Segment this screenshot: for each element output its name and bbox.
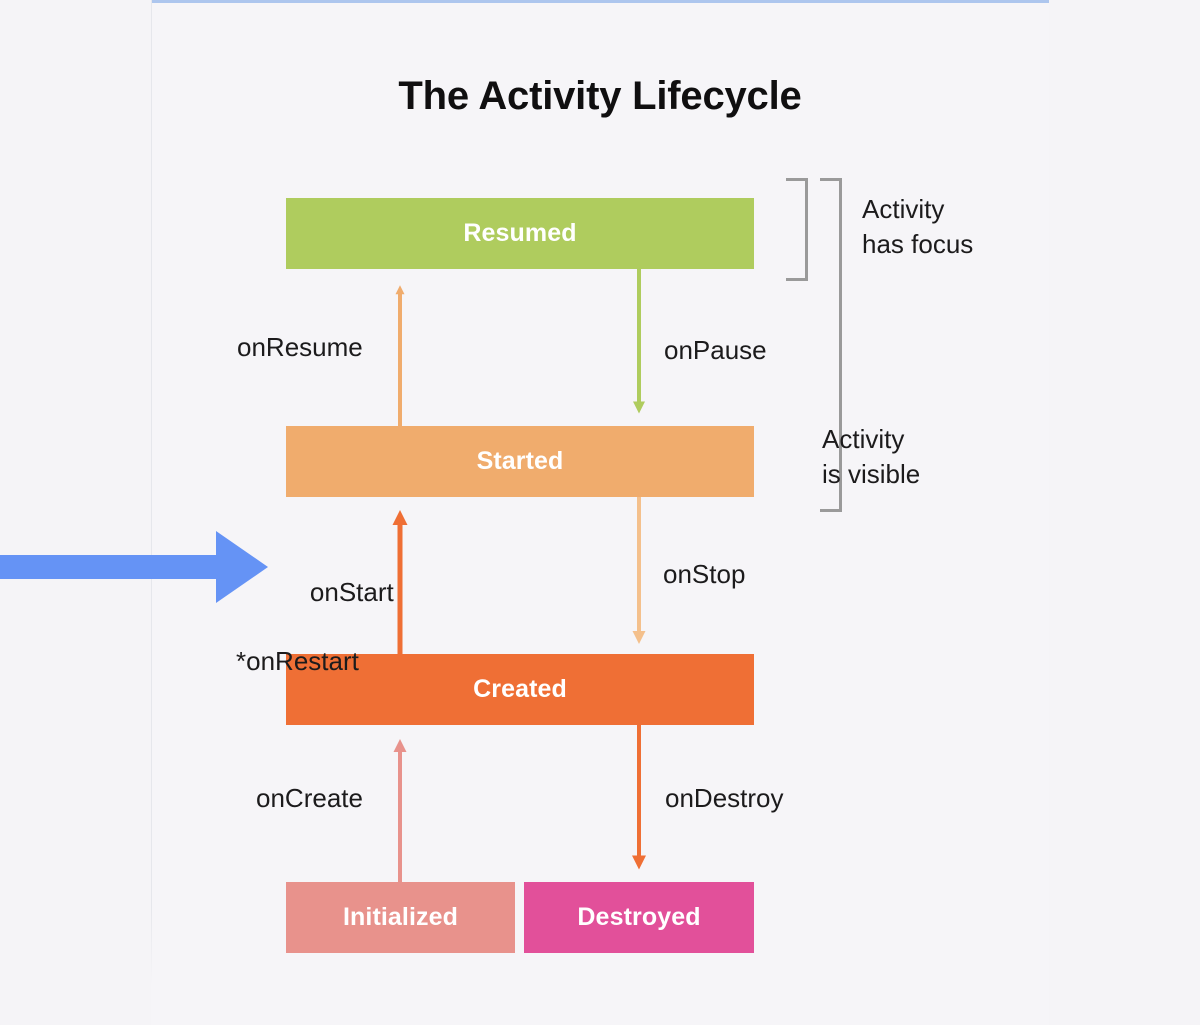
page-panel: [151, 0, 1049, 1025]
state-label-destroyed: Destroyed: [577, 903, 700, 932]
annotation-has-focus-line2: has focus: [862, 227, 973, 262]
edge-label-onstart-line2: *onRestart: [236, 644, 394, 678]
diagram-stage: The Activity Lifecycle: [0, 0, 1200, 1022]
edge-label-oncreate: onCreate: [256, 781, 363, 815]
edge-label-onstop: onStop: [663, 557, 745, 591]
state-label-initialized: Initialized: [343, 903, 458, 932]
state-label-created: Created: [473, 675, 567, 704]
state-label-resumed: Resumed: [463, 219, 576, 248]
edge-label-ondestroy: onDestroy: [665, 781, 784, 815]
state-box-started[interactable]: Started: [286, 426, 754, 497]
annotation-has-focus: Activity has focus: [862, 192, 973, 262]
panel-divider: [151, 0, 152, 985]
edge-label-onstart: onStart *onRestart: [281, 541, 394, 747]
bracket-has-focus: [786, 178, 808, 281]
annotation-is-visible: Activity is visible: [822, 422, 920, 492]
state-box-initialized[interactable]: Initialized: [286, 882, 515, 953]
page-title: The Activity Lifecycle: [151, 74, 1049, 119]
annotation-is-visible-line2: is visible: [822, 457, 920, 492]
edge-label-onresume: onResume: [237, 330, 363, 364]
edge-label-onpause: onPause: [664, 333, 767, 367]
annotation-has-focus-line1: Activity: [862, 192, 973, 227]
state-box-resumed[interactable]: Resumed: [286, 198, 754, 269]
state-label-started: Started: [477, 447, 564, 476]
callout-arrow-icon: [0, 527, 272, 607]
state-box-destroyed[interactable]: Destroyed: [524, 882, 754, 953]
edge-label-onstart-line1: onStart: [310, 577, 394, 607]
annotation-is-visible-line1: Activity: [822, 422, 920, 457]
